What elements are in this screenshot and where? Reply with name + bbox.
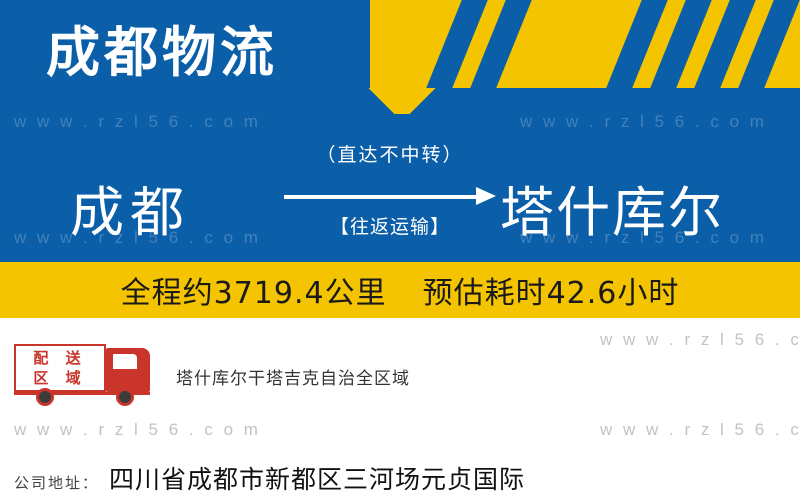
route-arrow-group: （直达不中转） 【往返运输】 — [280, 140, 500, 250]
watermark: w w w . r z l 5 6 . c o m — [14, 420, 261, 440]
address-value: 四川省成都市新都区三河场元贞国际 — [109, 465, 525, 494]
delivery-badge-line2: 区 域 — [33, 368, 86, 388]
watermark: w w w . r z l 5 6 . c o m — [14, 112, 261, 132]
trip-duration: 预估耗时42.6小时 — [423, 268, 680, 312]
poster-title: 成都物流 — [46, 8, 278, 87]
arrow-right-icon — [284, 184, 496, 210]
watermark: w w w . r z l 5 6 . c o m — [600, 330, 800, 350]
truck-window — [113, 354, 137, 369]
truck-wheel — [36, 388, 54, 406]
watermark: w w w . r z l 5 6 . c o m — [520, 112, 767, 132]
route-note-bottom: 【往返运输】 — [280, 212, 500, 239]
route-note-top: （直达不中转） — [280, 140, 500, 167]
destination-city: 塔什库尔 — [500, 168, 724, 247]
arrow-head — [476, 187, 496, 205]
company-address: 公司地址：四川省成都市新都区三河场元贞国际 — [14, 460, 800, 496]
trip-distance: 全程约3719.4公里 — [121, 268, 387, 312]
truck-icon: 配 送 区 域 — [14, 338, 160, 408]
chevron-down-icon — [366, 88, 438, 114]
address-label: 公司地址： — [14, 474, 99, 492]
truck-wheel — [116, 388, 134, 406]
watermark: w w w . r z l 5 6 . c o m — [600, 420, 800, 440]
logistics-poster: 成都物流 w w w . r z l 5 6 . c o m w w w . r… — [0, 0, 800, 500]
footer-area: 配 送 区 域 塔什库尔干塔吉克自治全区域 w w w . r z l 5 6 … — [0, 318, 800, 500]
origin-city: 成都 — [70, 168, 190, 247]
delivery-badge-line1: 配 送 — [33, 348, 86, 368]
arrow-line — [284, 195, 480, 199]
coverage-text: 塔什库尔干塔吉克自治全区域 — [176, 364, 410, 389]
delivery-badge: 配 送 区 域 — [14, 344, 106, 392]
diagonal-stripes — [380, 0, 800, 88]
trip-info-band: 全程约3719.4公里 预估耗时42.6小时 — [0, 262, 800, 318]
